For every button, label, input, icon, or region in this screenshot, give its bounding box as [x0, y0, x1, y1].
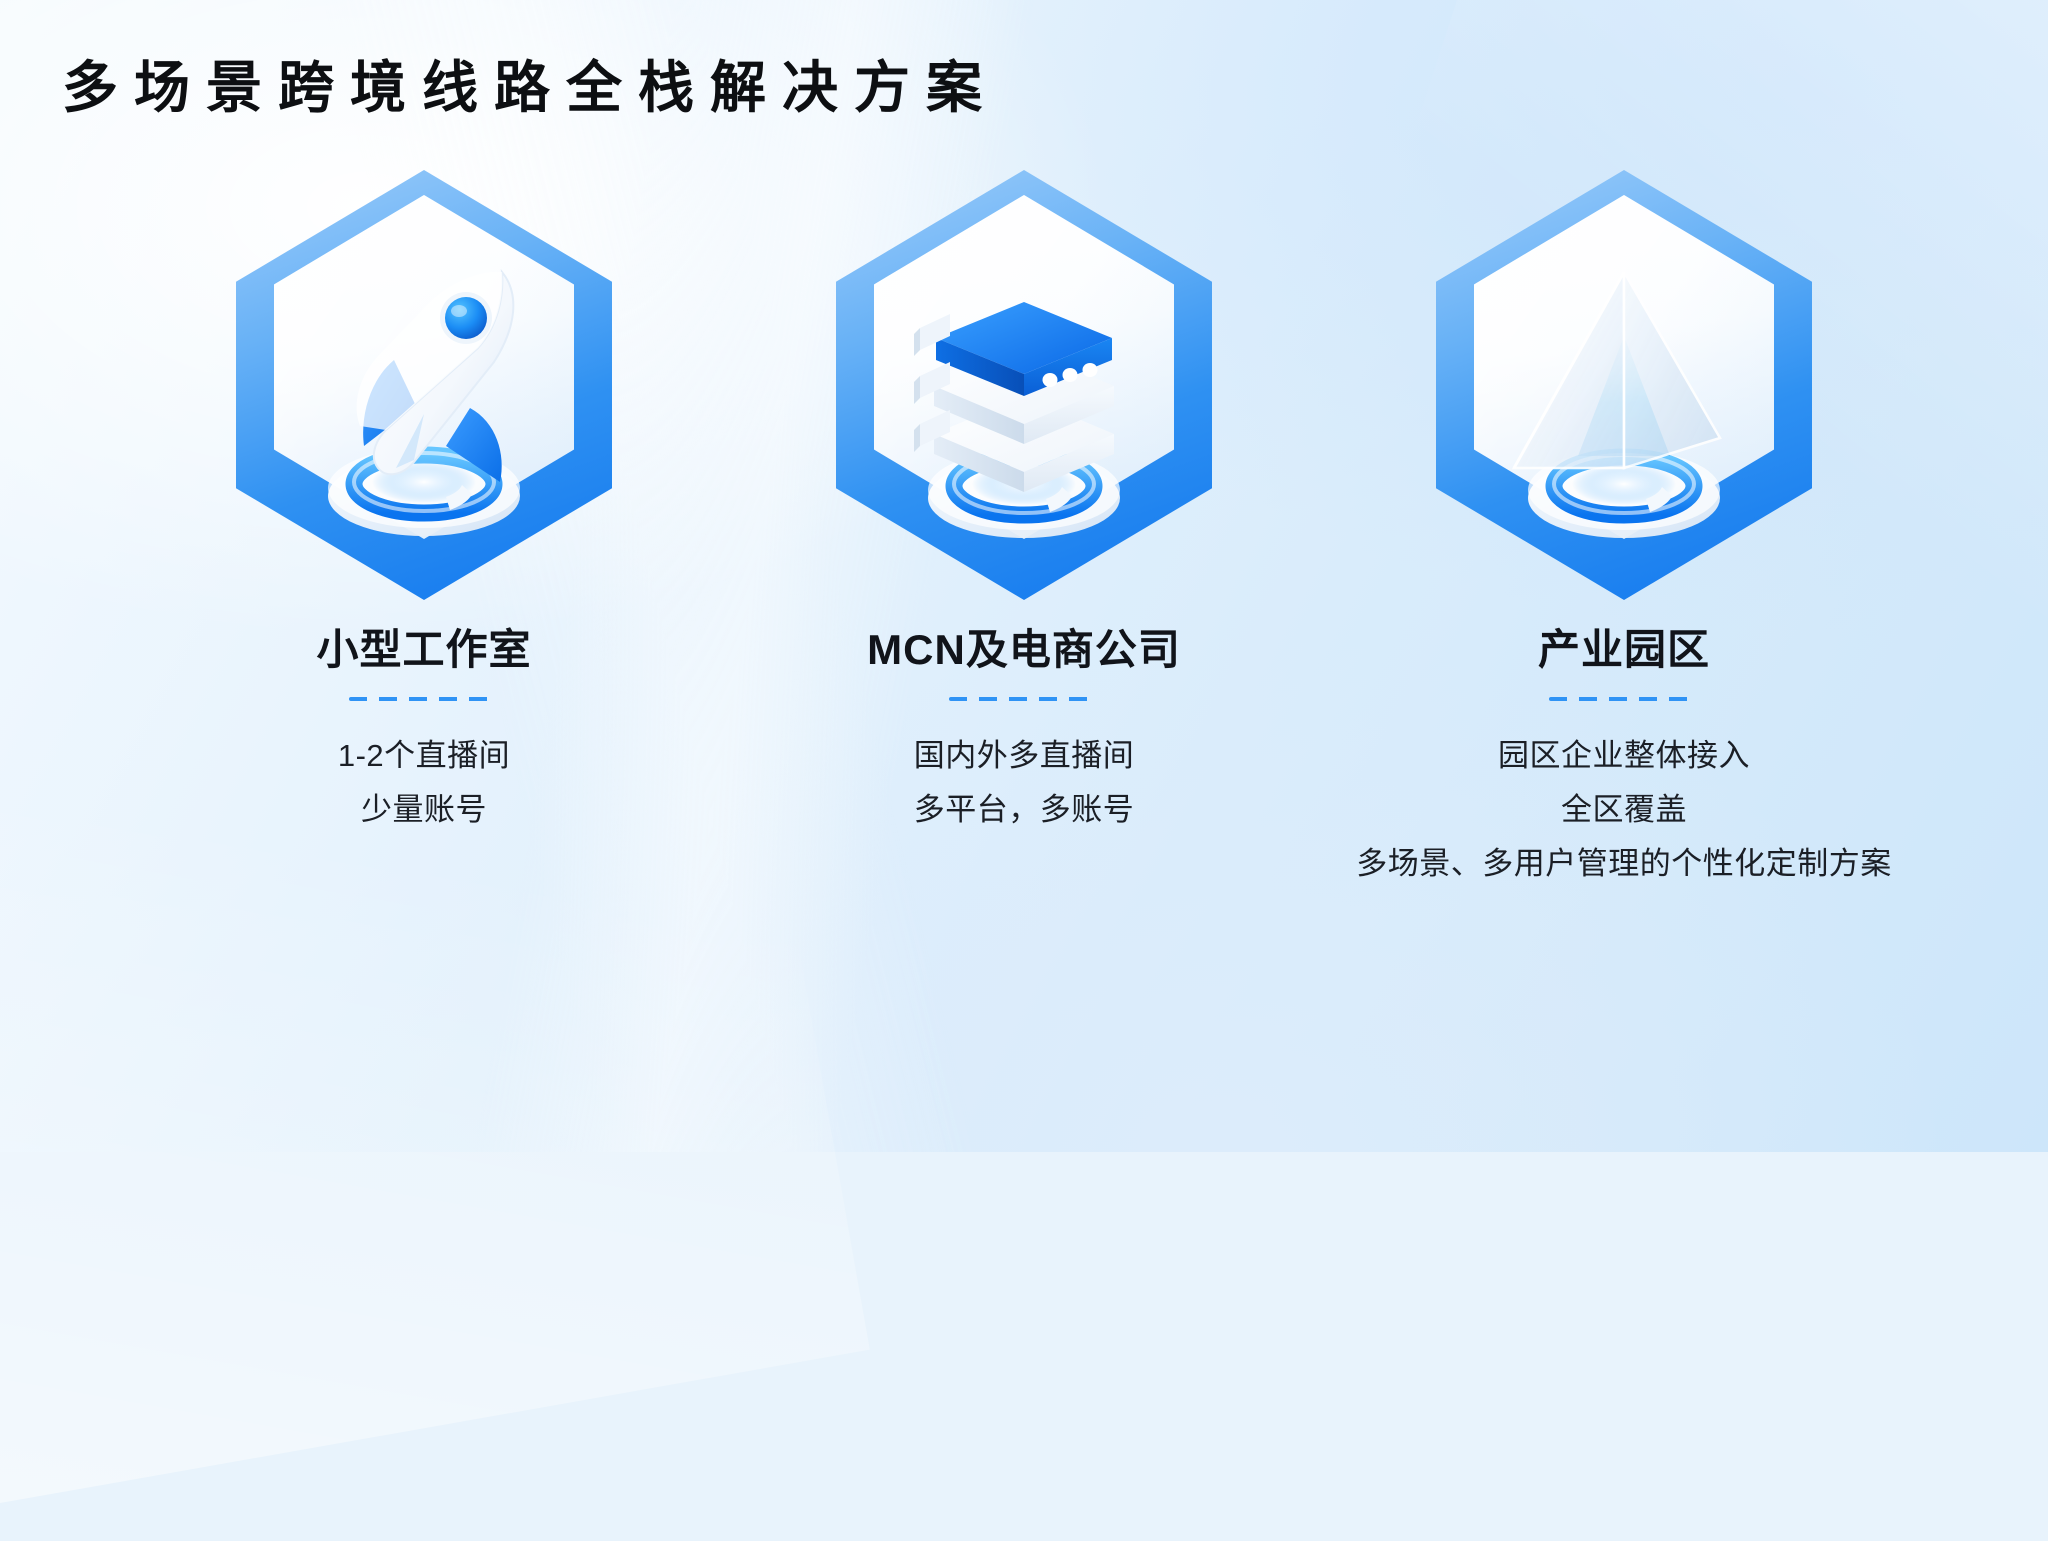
scenario-card-mcn-ecommerce[interactable]: MCN及电商公司 国内外多直播间 多平台，多账号 — [744, 170, 1304, 835]
hexagon-badge-1 — [229, 170, 619, 610]
scenario-card-list: 小型工作室 1-2个直播间 少量账号 — [0, 170, 2048, 1070]
card-title: 小型工作室 — [316, 616, 531, 677]
scenario-card-small-studio[interactable]: 小型工作室 1-2个直播间 少量账号 — [144, 170, 704, 835]
card-desc-line: 多平台，多账号 — [914, 785, 1135, 835]
card-description: 国内外多直播间 多平台，多账号 — [914, 731, 1135, 835]
card-desc-line: 1-2个直播间 — [338, 731, 510, 781]
card-divider — [949, 697, 1099, 701]
card-divider — [1549, 697, 1699, 701]
card-title: 产业园区 — [1538, 616, 1710, 677]
hexagon-badge-2 — [829, 170, 1219, 610]
card-desc-line: 园区企业整体接入 — [1356, 731, 1892, 781]
rocket-3d-icon — [274, 210, 574, 550]
card-desc-line: 多场景、多用户管理的个性化定制方案 — [1356, 839, 1892, 889]
page-title: 多场景跨境线路全栈解决方案 — [62, 56, 998, 120]
scenario-card-industrial-park[interactable]: 产业园区 园区企业整体接入 全区覆盖 多场景、多用户管理的个性化定制方案 — [1344, 170, 1904, 890]
card-description: 1-2个直播间 少量账号 — [338, 731, 510, 835]
hexagon-badge-3 — [1429, 170, 1819, 610]
card-description: 园区企业整体接入 全区覆盖 多场景、多用户管理的个性化定制方案 — [1356, 731, 1892, 890]
card-title: MCN及电商公司 — [867, 616, 1181, 677]
card-divider — [349, 697, 499, 701]
glass-pyramid-3d-icon — [1474, 210, 1774, 550]
card-desc-line: 少量账号 — [338, 785, 510, 835]
card-desc-line: 国内外多直播间 — [914, 731, 1135, 781]
card-desc-line: 全区覆盖 — [1356, 785, 1892, 835]
server-stack-3d-icon — [874, 210, 1174, 550]
